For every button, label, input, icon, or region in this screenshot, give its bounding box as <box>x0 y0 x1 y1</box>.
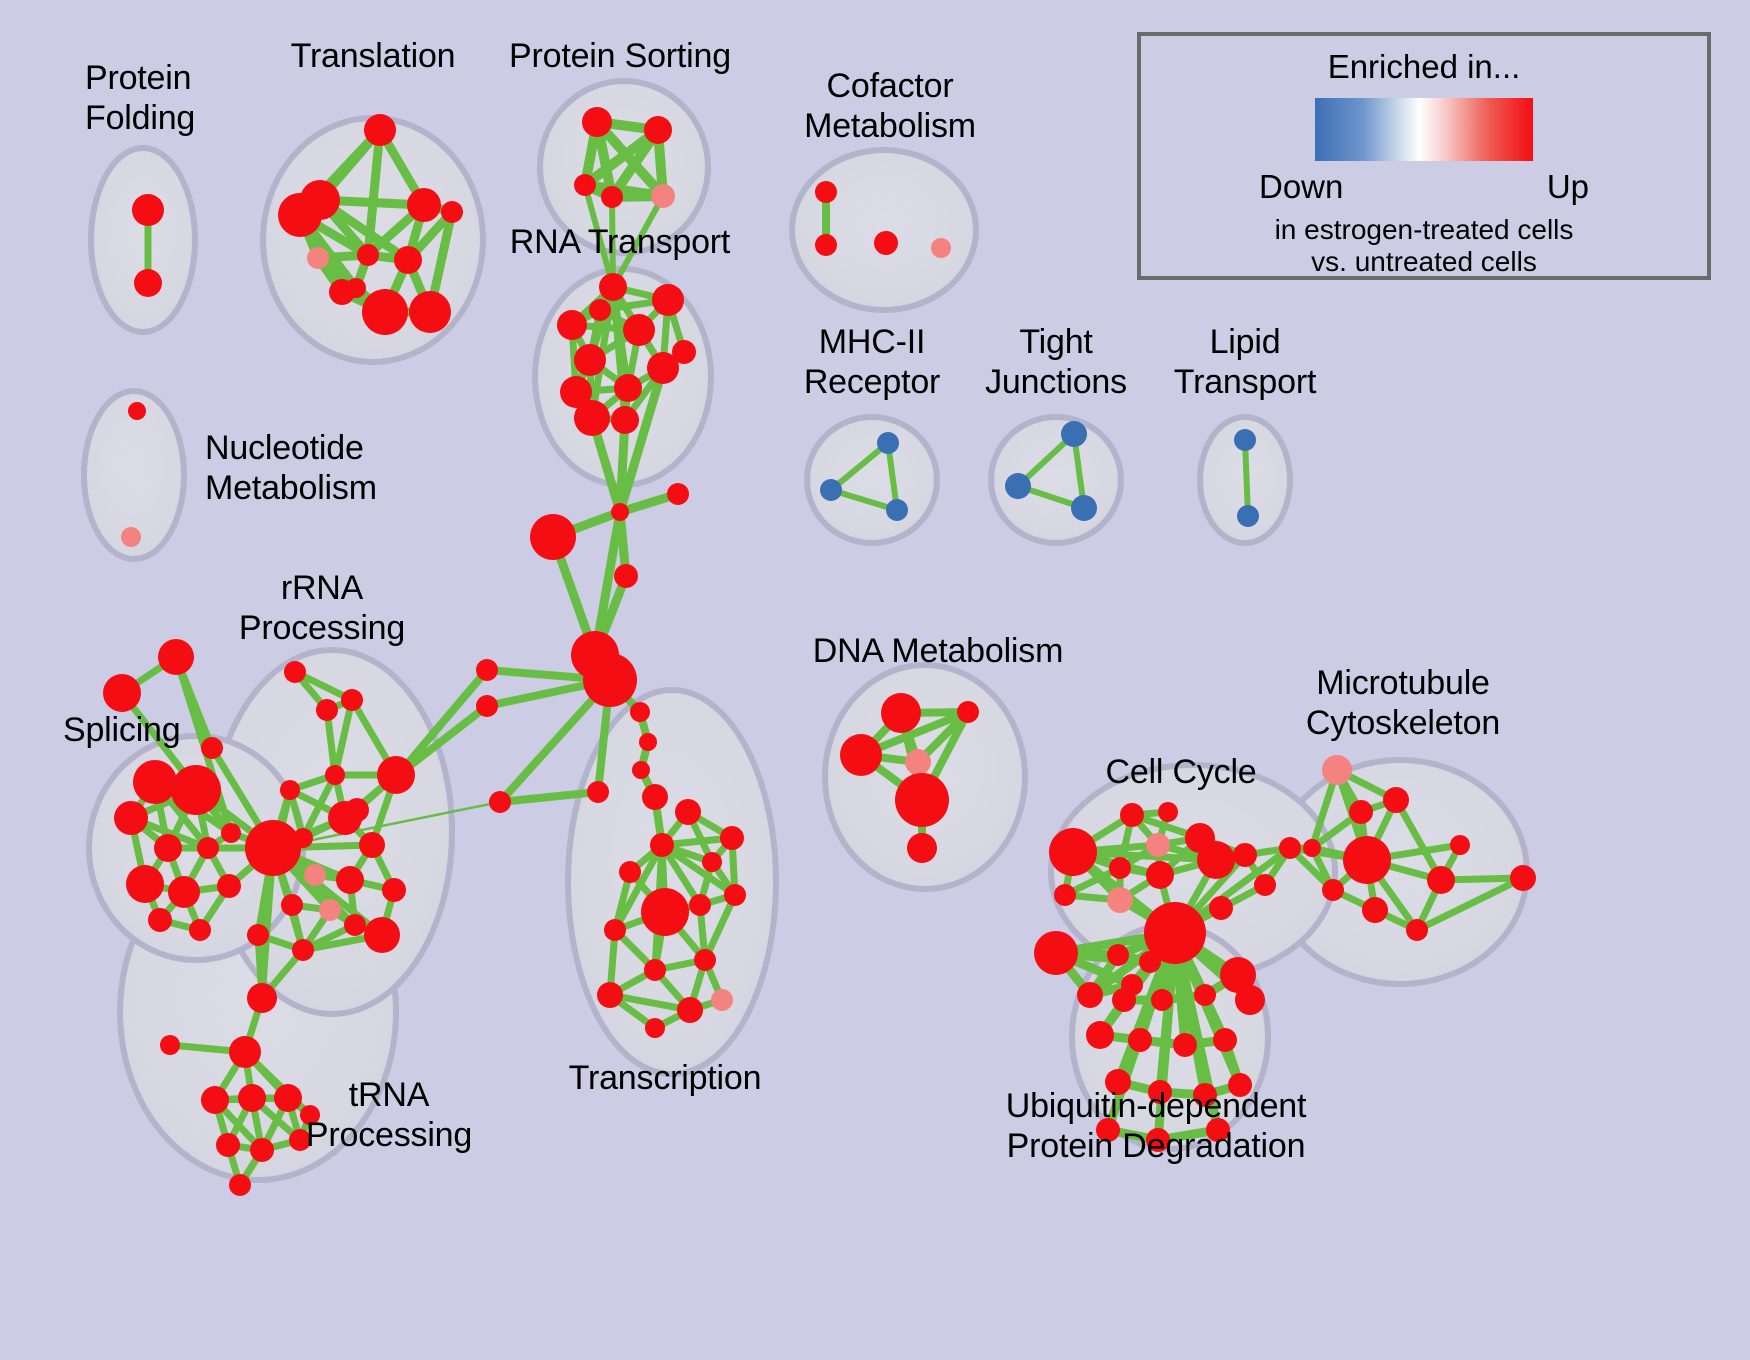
node <box>362 289 408 335</box>
node <box>1303 839 1321 857</box>
node <box>677 997 703 1023</box>
node <box>601 186 623 208</box>
node <box>720 826 744 850</box>
node <box>292 939 314 961</box>
node <box>357 244 379 266</box>
node <box>1197 841 1235 879</box>
cluster-label-protein-sorting: Protein Sorting <box>509 36 731 76</box>
node <box>1120 803 1144 827</box>
node <box>931 238 951 258</box>
node <box>489 791 511 813</box>
node <box>247 983 277 1013</box>
node <box>645 1018 665 1038</box>
node <box>1151 989 1173 1011</box>
node <box>377 756 415 794</box>
legend-title: Enriched in... <box>1141 48 1707 86</box>
node <box>1109 857 1131 879</box>
node <box>1005 473 1031 499</box>
node <box>441 201 463 223</box>
cluster-label-trna-processing: tRNA Processing <box>306 1075 472 1155</box>
node <box>189 919 211 941</box>
node <box>168 876 200 908</box>
node <box>1254 874 1276 896</box>
cluster-label-splicing: Splicing <box>63 710 180 750</box>
node <box>133 760 177 804</box>
node <box>245 820 301 876</box>
node <box>877 432 899 454</box>
node <box>1139 951 1161 973</box>
node <box>121 527 141 547</box>
node <box>582 107 612 137</box>
node <box>201 737 223 759</box>
node <box>148 908 172 932</box>
node <box>1086 1021 1114 1049</box>
node <box>325 765 345 785</box>
cluster-label-microtubule: Microtubule Cytoskeleton <box>1306 663 1500 743</box>
node <box>476 659 498 681</box>
node <box>132 194 164 226</box>
node <box>840 734 882 776</box>
node <box>103 674 141 712</box>
node <box>619 861 641 883</box>
node <box>1209 896 1233 920</box>
node <box>1406 919 1428 941</box>
node <box>1077 982 1103 1008</box>
node <box>820 479 842 501</box>
node <box>583 653 637 707</box>
cluster-label-rna-transport: RNA Transport <box>510 222 730 262</box>
cluster-label-rrna-processing: rRNA Processing <box>239 568 405 648</box>
node <box>702 852 722 872</box>
node <box>711 989 733 1011</box>
node <box>1054 884 1076 906</box>
node <box>1279 837 1301 859</box>
node <box>614 374 642 402</box>
node <box>611 503 629 521</box>
node <box>1349 800 1373 824</box>
node <box>1128 1028 1152 1052</box>
node <box>907 833 937 863</box>
node <box>216 1133 240 1157</box>
node <box>274 1084 302 1112</box>
node <box>815 181 837 203</box>
hull-protein-folding <box>91 148 195 332</box>
node <box>344 914 366 936</box>
enrichment-map-figure: Protein Folding Translation Protein Sort… <box>0 0 1750 1360</box>
node <box>229 1174 251 1196</box>
node <box>599 273 627 301</box>
node <box>1510 865 1536 891</box>
node <box>815 234 837 256</box>
node <box>647 352 679 384</box>
node <box>336 866 364 894</box>
node <box>1234 429 1256 451</box>
node <box>1233 843 1257 867</box>
node <box>247 924 269 946</box>
node <box>407 188 441 222</box>
cluster-label-protein-folding: Protein Folding <box>85 58 195 138</box>
node <box>1450 835 1470 855</box>
cluster-label-tight-junctions: Tight Junctions <box>985 322 1127 402</box>
node <box>201 1086 229 1114</box>
node <box>284 661 306 683</box>
node <box>307 247 329 269</box>
cluster-label-mhc-ii: MHC-II Receptor <box>804 322 940 402</box>
node <box>694 949 716 971</box>
cluster-label-cofactor: Cofactor Metabolism <box>804 66 976 146</box>
node <box>1383 787 1409 813</box>
node <box>1213 1028 1237 1052</box>
node <box>1034 931 1078 975</box>
node <box>881 693 921 733</box>
node <box>1235 985 1265 1015</box>
node <box>160 1035 180 1055</box>
node <box>281 894 303 916</box>
node <box>675 799 701 825</box>
node <box>1107 887 1133 913</box>
node <box>382 878 406 902</box>
node <box>623 314 655 346</box>
legend-box: Enriched in... Down Up in estrogen-treat… <box>1137 32 1711 280</box>
node <box>1071 495 1097 521</box>
node <box>905 749 931 775</box>
node <box>319 899 341 921</box>
node <box>134 269 162 297</box>
node <box>1427 866 1455 894</box>
node <box>1362 897 1388 923</box>
node <box>316 699 338 721</box>
node <box>1107 944 1129 966</box>
node <box>604 919 626 941</box>
node <box>154 834 182 862</box>
node <box>304 864 326 886</box>
node <box>642 784 668 810</box>
node <box>724 884 746 906</box>
node <box>221 823 241 843</box>
node <box>409 291 451 333</box>
node <box>197 837 219 859</box>
node <box>651 184 675 208</box>
node <box>280 780 300 800</box>
legend-colorbar <box>1315 98 1533 161</box>
node <box>641 888 689 936</box>
cluster-label-lipid-transport: Lipid Transport <box>1174 322 1316 402</box>
cluster-label-ubiquitin: Ubiquitin-dependent Protein Degradation <box>1006 1086 1307 1166</box>
cluster-label-nucleotide: Nucleotide Metabolism <box>205 428 377 508</box>
cluster-label-transcription: Transcription <box>569 1058 762 1098</box>
node <box>217 874 241 898</box>
node <box>557 310 587 340</box>
node <box>1194 984 1216 1006</box>
node <box>667 483 689 505</box>
node <box>895 773 949 827</box>
node <box>644 116 672 144</box>
node <box>250 1138 274 1162</box>
node <box>574 400 610 436</box>
node <box>1146 833 1170 857</box>
node <box>652 284 684 316</box>
node <box>171 765 221 815</box>
legend-up-label: Up <box>1547 168 1589 206</box>
node <box>126 865 164 903</box>
node <box>1343 836 1391 884</box>
cluster-label-dna-metabolism: DNA Metabolism <box>813 631 1063 671</box>
node <box>874 231 898 255</box>
node <box>1158 802 1178 822</box>
node <box>328 801 362 835</box>
legend-subtitle-line2: vs. untreated cells <box>1141 246 1707 278</box>
node <box>1049 828 1097 876</box>
node <box>114 801 148 835</box>
node <box>886 499 908 521</box>
node <box>394 246 422 274</box>
node <box>1322 755 1352 785</box>
node <box>341 689 363 711</box>
cluster-label-cell-cycle: Cell Cycle <box>1105 752 1256 792</box>
node <box>597 982 623 1008</box>
node <box>611 406 639 434</box>
cluster-label-translation: Translation <box>291 36 456 76</box>
node <box>644 959 666 981</box>
node <box>574 174 596 196</box>
node <box>1173 1033 1197 1057</box>
node <box>476 695 498 717</box>
legend-subtitle-line1: in estrogen-treated cells <box>1141 214 1707 246</box>
node <box>364 917 400 953</box>
node <box>589 299 611 321</box>
node <box>364 114 396 146</box>
node <box>158 639 194 675</box>
node <box>229 1036 261 1068</box>
node <box>614 564 638 588</box>
node <box>587 781 609 803</box>
node <box>650 833 674 857</box>
legend-down-label: Down <box>1259 168 1343 206</box>
node <box>238 1084 266 1112</box>
node <box>632 761 650 779</box>
node <box>630 702 650 722</box>
node <box>359 832 385 858</box>
hull-cofactor <box>792 150 976 310</box>
node <box>1061 421 1087 447</box>
node <box>689 894 711 916</box>
node <box>346 278 366 298</box>
node <box>1112 988 1136 1012</box>
node <box>530 514 576 560</box>
node <box>1146 861 1174 889</box>
node <box>1237 505 1259 527</box>
node <box>128 402 146 420</box>
node <box>639 733 657 751</box>
node <box>957 701 979 723</box>
node <box>1322 879 1344 901</box>
node <box>278 193 322 237</box>
node <box>574 344 606 376</box>
